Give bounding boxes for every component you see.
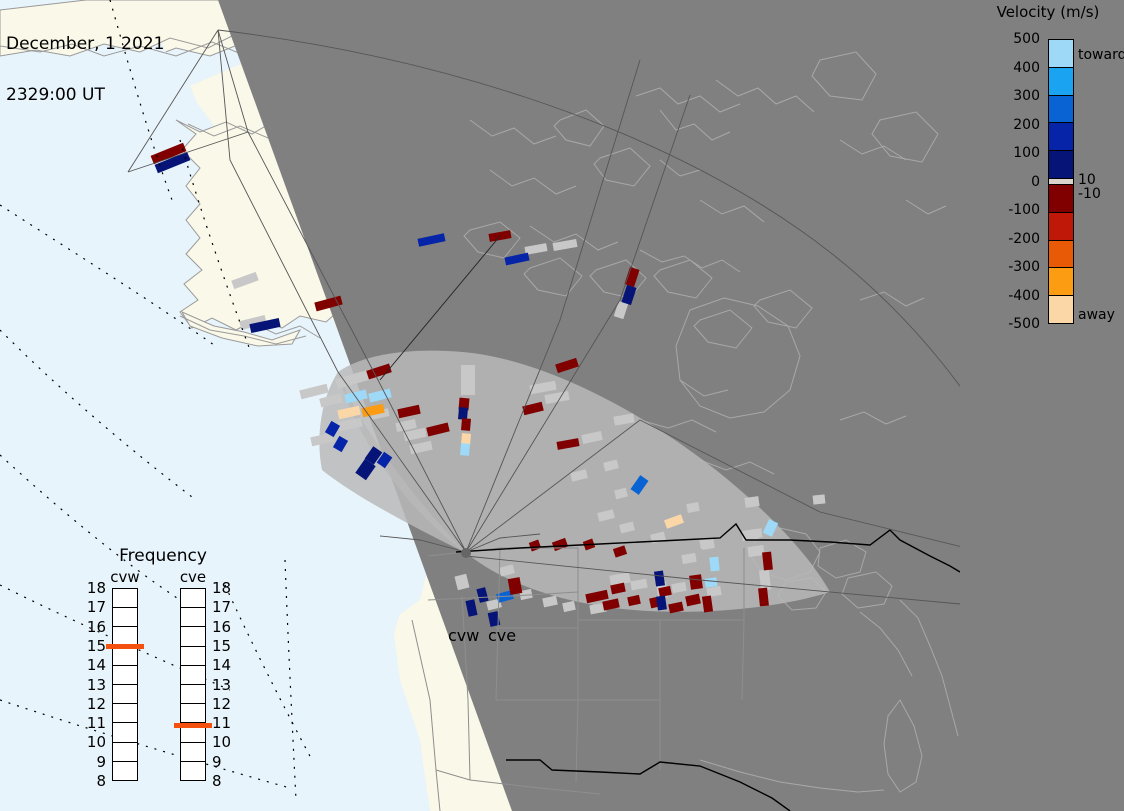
velocity-tick--400: -400 (1008, 288, 1040, 304)
frequency-tick-16: 16 (87, 618, 106, 636)
ground-scatter-cell (461, 365, 475, 395)
velocity-legend: Velocity (m/s) 5004003002001000-100-200-… (960, 0, 1124, 811)
frequency-cell (181, 589, 205, 608)
velocity-toward-label: toward (1078, 47, 1124, 63)
frequency-tick-15: 15 (212, 637, 231, 655)
velocity-legend-title: Velocity (m/s) (972, 3, 1124, 21)
frequency-cell (113, 608, 137, 627)
velocity-tick--300: -300 (1008, 259, 1040, 275)
velocity-tick-300: 300 (1013, 88, 1040, 104)
velocity-minus-ten-label: -10 (1078, 186, 1101, 202)
velocity-segment-10 (1049, 296, 1073, 323)
frequency-tick-13: 13 (87, 676, 106, 694)
frequency-tick-13: 13 (212, 676, 231, 694)
frequency-tick-11: 11 (87, 714, 106, 732)
frequency-cell (181, 743, 205, 762)
velocity-cell (461, 418, 471, 431)
frequency-ticks-cve: 18171615141312111098 (210, 588, 240, 781)
velocity-cell (758, 588, 769, 607)
ground-scatter-cell (749, 528, 762, 539)
site-label-cve: cve (488, 626, 516, 645)
ground-scatter-cell (744, 496, 759, 508)
velocity-side-labels: toward10-10away (1076, 30, 1124, 330)
velocity-tick-500: 500 (1013, 31, 1040, 47)
frequency-tick-17: 17 (212, 598, 231, 616)
velocity-cell (458, 407, 468, 420)
radar-site-marker (461, 548, 471, 558)
frequency-cell (113, 666, 137, 685)
velocity-cell (762, 552, 773, 571)
velocity-cell (709, 557, 719, 572)
frequency-cell (113, 647, 137, 666)
frequency-tick-8: 8 (96, 772, 106, 790)
frequency-tick-10: 10 (212, 733, 231, 751)
velocity-tick--500: -500 (1008, 316, 1040, 332)
velocity-tick-400: 400 (1013, 60, 1040, 76)
frequency-radar-name-cvw: cvw (102, 568, 148, 586)
velocity-segment-6 (1049, 185, 1073, 213)
radar-fan-plot: December, 1 2021 2329:00 UT cvw cve Velo… (0, 0, 1124, 811)
frequency-tick-9: 9 (212, 753, 222, 771)
frequency-bar-cvw (112, 588, 138, 781)
ground-scatter-cell (759, 570, 771, 591)
frequency-cell (113, 704, 137, 723)
frequency-tick-12: 12 (87, 695, 106, 713)
frequency-legend: Frequency cvw cve 18171615141312111098 1… (78, 546, 248, 786)
frequency-tick-11: 11 (212, 714, 231, 732)
frequency-tick-15: 15 (87, 637, 106, 655)
velocity-tick--200: -200 (1008, 231, 1040, 247)
frequency-marker-cve (174, 723, 212, 728)
frequency-tick-8: 8 (212, 772, 222, 790)
frequency-cell (113, 685, 137, 704)
frequency-cell (181, 762, 205, 780)
frequency-tick-12: 12 (212, 695, 231, 713)
velocity-tick-0: 0 (1031, 174, 1040, 190)
frequency-tick-16: 16 (212, 618, 231, 636)
velocity-tick-100: 100 (1013, 145, 1040, 161)
frequency-cell (181, 627, 205, 646)
frequency-tick-18: 18 (87, 579, 106, 597)
frequency-legend-title: Frequency (78, 546, 248, 566)
velocity-cell (689, 574, 703, 590)
velocity-segment-2 (1049, 96, 1073, 124)
velocity-segment-1 (1049, 68, 1073, 96)
frequency-tick-14: 14 (87, 656, 106, 674)
timestamp-block: December, 1 2021 2329:00 UT (6, 2, 164, 138)
velocity-colorbar (1048, 39, 1074, 324)
frequency-cell (113, 589, 137, 608)
ground-scatter-cell (813, 494, 826, 504)
frequency-cell (181, 666, 205, 685)
velocity-cell (704, 577, 717, 588)
frequency-cell (113, 743, 137, 762)
frequency-cell (113, 723, 137, 742)
velocity-tick--100: -100 (1008, 202, 1040, 218)
velocity-tick-200: 200 (1013, 117, 1040, 133)
velocity-segment-7 (1049, 213, 1073, 241)
velocity-segment-0 (1049, 40, 1073, 68)
frequency-tick-17: 17 (87, 598, 106, 616)
velocity-segment-9 (1049, 268, 1073, 296)
frequency-cell (181, 685, 205, 704)
frequency-cell (181, 608, 205, 627)
velocity-tick-labels: 5004003002001000-100-200-300-400-500 (960, 30, 1044, 330)
date-label: December, 1 2021 (6, 36, 164, 53)
frequency-bar-cve (180, 588, 206, 781)
frequency-ticks-cvw: 18171615141312111098 (78, 588, 108, 781)
time-label: 2329:00 UT (6, 87, 164, 104)
frequency-tick-10: 10 (87, 733, 106, 751)
velocity-away-label: away (1078, 307, 1115, 323)
frequency-cell (181, 647, 205, 666)
frequency-cell (181, 704, 205, 723)
velocity-segment-3 (1049, 123, 1073, 151)
frequency-marker-cvw (106, 644, 144, 649)
velocity-segment-4 (1049, 151, 1073, 179)
velocity-segment-8 (1049, 241, 1073, 269)
frequency-tick-9: 9 (96, 753, 106, 771)
frequency-tick-14: 14 (212, 656, 231, 674)
frequency-radar-name-cve: cve (170, 568, 216, 586)
frequency-cell (113, 762, 137, 780)
site-label-cvw: cvw (448, 626, 479, 645)
frequency-tick-18: 18 (212, 579, 231, 597)
velocity-cell (460, 443, 470, 456)
